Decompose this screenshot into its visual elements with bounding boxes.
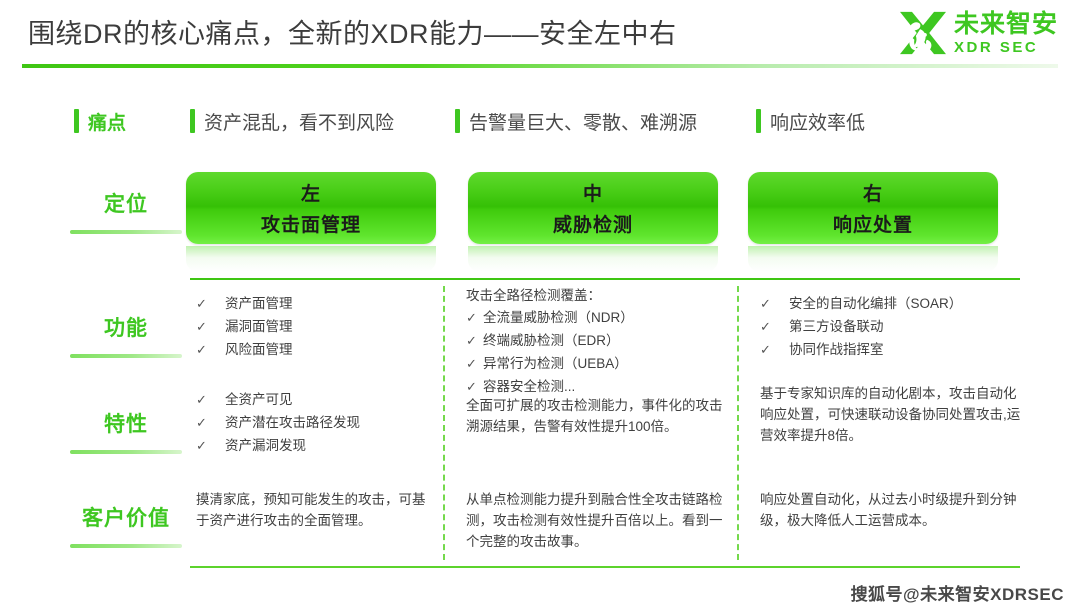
button-reflection-mid [468,246,718,272]
list-item-text: 安全的自动化编排（SOAR） [789,294,962,315]
button-reflection-left [186,246,436,272]
list-item-text: 资产面管理 [225,294,293,315]
list-item-text: 终端威胁检测（EDR） [483,331,620,352]
list-item-text: 全资产可见 [225,390,293,411]
check-icon: ✓ [466,354,477,374]
check-icon: ✓ [196,390,207,410]
cell-value-mid: 从单点检测能力提升到融合性全攻击链路检测，攻击检测有效性提升百倍以上。看到一个完… [466,490,728,553]
table-row: 功能 ✓资产面管理 ✓漏洞面管理 ✓风险面管理 攻击全路径检测覆盖： ✓全流量威… [0,286,1080,378]
pillar-button-left-title: 左 [301,179,321,206]
accent-bar-icon [74,109,79,133]
list-item: ✓资产面管理 [196,294,432,315]
table-top-divider [190,278,1020,280]
cell-paragraph: 响应处置自动化，从过去小时级提升到分钟级，极大降低人工运营成本。 [760,490,1028,532]
pillar-button-mid-subtitle: 威胁检测 [553,210,633,237]
cell-paragraph: 全面可扩展的攻击检测能力，事件化的攻击溯源结果，告警有效性提升100倍。 [466,396,728,438]
header-divider [22,64,1058,68]
list-item: ✓第三方设备联动 [760,317,1028,338]
list-item-text: 资产漏洞发现 [225,436,306,457]
list-item-text: 协同作战指挥室 [789,340,884,361]
painpoint-item-1: 资产混乱，看不到风险 [190,104,394,138]
checklist: ✓资产面管理 ✓漏洞面管理 ✓风险面管理 [196,294,432,361]
check-icon: ✓ [760,340,771,360]
painpoint-row: 痛点 资产混乱，看不到风险 告警量巨大、零散、难溯源 响应效率低 [0,104,1080,144]
pillar-button-right-subtitle: 响应处置 [833,210,913,237]
check-icon: ✓ [466,308,477,328]
button-reflection-right [748,246,998,272]
position-label: 定位 [70,188,182,218]
row-label-block-value: 客户价值 [70,502,182,548]
label-underline [70,450,182,454]
list-item: ✓全资产可见 [196,390,432,411]
cell-paragraph: 从单点检测能力提升到融合性全攻击链路检测，攻击检测有效性提升百倍以上。看到一个完… [466,490,728,553]
cell-feature-mid: 全面可扩展的攻击检测能力，事件化的攻击溯源结果，告警有效性提升100倍。 [466,396,728,438]
accent-bar-icon [756,109,761,133]
label-underline [70,354,182,358]
pillar-button-right-title: 右 [863,179,883,206]
cell-feature-right: 基于专家知识库的自动化剧本，攻击自动化响应处置，可快速联动设备协同处置攻击,运营… [760,384,1028,447]
brand-name-en: XDR SEC [954,40,1058,55]
cell-feature-left: ✓全资产可见 ✓资产潜在攻击路径发现 ✓资产漏洞发现 [196,390,432,459]
page-title: 围绕DR的核心痛点，全新的XDR能力——安全左中右 [28,12,677,51]
list-item-text: 全流量威胁检测（NDR） [483,308,634,329]
accent-bar-icon [190,109,195,133]
pillar-button-mid-title: 中 [583,179,603,206]
list-item: ✓协同作战指挥室 [760,340,1028,361]
painpoint-item-3-text: 响应效率低 [770,108,865,135]
row-label-feature: 特性 [70,408,182,438]
row-label-customer-value: 客户价值 [70,502,182,532]
brand-logo: 未来智安 XDR SEC [899,8,1058,58]
list-item: ✓风险面管理 [196,340,432,361]
row-label-block-function: 功能 [70,312,182,358]
list-item: ✓资产漏洞发现 [196,436,432,457]
list-item-text: 风险面管理 [225,340,293,361]
table-row: 客户价值 摸清家底，预知可能发生的攻击，可基于资产进行攻击的全面管理。 从单点检… [0,480,1080,566]
position-label-block: 定位 [70,188,182,234]
brand-name-cn: 未来智安 [954,12,1058,37]
checklist: ✓安全的自动化编排（SOAR） ✓第三方设备联动 ✓协同作战指挥室 [760,294,1028,361]
pillar-button-left-subtitle: 攻击面管理 [261,210,361,237]
table-bottom-divider [190,566,1020,568]
painpoint-item-1-text: 资产混乱，看不到风险 [204,108,394,135]
cell-heading: 攻击全路径检测覆盖： [466,286,728,307]
check-icon: ✓ [196,317,207,337]
table-row: 特性 ✓全资产可见 ✓资产潜在攻击路径发现 ✓资产漏洞发现 全面可扩展的攻击检测… [0,382,1080,474]
accent-bar-icon [455,109,460,133]
list-item-text: 异常行为检测（UEBA） [483,354,628,375]
painpoint-label-cell: 痛点 [74,104,126,138]
checklist: ✓全资产可见 ✓资产潜在攻击路径发现 ✓资产漏洞发现 [196,390,432,457]
cell-paragraph: 基于专家知识库的自动化剧本，攻击自动化响应处置，可快速联动设备协同处置攻击,运营… [760,384,1028,447]
pillar-button-right[interactable]: 右 响应处置 [748,172,998,244]
list-item-text: 漏洞面管理 [225,317,293,338]
list-item: ✓漏洞面管理 [196,317,432,338]
painpoint-item-3: 响应效率低 [756,104,865,138]
check-icon: ✓ [196,294,207,314]
list-item: ✓全流量威胁检测（NDR） [466,308,728,329]
watermark: 搜狐号@未来智安XDRSEC [851,580,1064,605]
painpoint-item-2-text: 告警量巨大、零散、难溯源 [469,108,697,135]
check-icon: ✓ [196,413,207,433]
list-item: ✓异常行为检测（UEBA） [466,354,728,375]
row-label-block-feature: 特性 [70,408,182,454]
check-icon: ✓ [196,436,207,456]
painpoint-item-2: 告警量巨大、零散、难溯源 [455,104,697,138]
page-header: 围绕DR的核心痛点，全新的XDR能力——安全左中右 未来智安 XDR SEC [0,0,1080,70]
list-item-text: 资产潜在攻击路径发现 [225,413,360,434]
check-icon: ✓ [760,317,771,337]
cell-function-left: ✓资产面管理 ✓漏洞面管理 ✓风险面管理 [196,294,432,363]
painpoint-label: 痛点 [88,108,126,135]
list-item: ✓安全的自动化编排（SOAR） [760,294,1028,315]
brand-text: 未来智安 XDR SEC [954,12,1058,55]
cell-function-right: ✓安全的自动化编排（SOAR） ✓第三方设备联动 ✓协同作战指挥室 [760,294,1028,363]
pillar-button-left[interactable]: 左 攻击面管理 [186,172,436,244]
check-icon: ✓ [760,294,771,314]
cell-value-left: 摸清家底，预知可能发生的攻击，可基于资产进行攻击的全面管理。 [196,490,432,532]
comparison-table: 功能 ✓资产面管理 ✓漏洞面管理 ✓风险面管理 攻击全路径检测覆盖： ✓全流量威… [0,278,1080,578]
list-item-text: 第三方设备联动 [789,317,884,338]
check-icon: ✓ [466,331,477,351]
row-label-function: 功能 [70,312,182,342]
label-underline [70,544,182,548]
brand-x-beast-icon [899,10,947,56]
list-item: ✓终端威胁检测（EDR） [466,331,728,352]
pillar-button-mid[interactable]: 中 威胁检测 [468,172,718,244]
check-icon: ✓ [196,340,207,360]
cell-paragraph: 摸清家底，预知可能发生的攻击，可基于资产进行攻击的全面管理。 [196,490,432,532]
cell-value-right: 响应处置自动化，从过去小时级提升到分钟级，极大降低人工运营成本。 [760,490,1028,532]
label-underline [70,230,182,234]
position-row: 定位 左 攻击面管理 中 威胁检测 右 响应处置 [0,166,1080,276]
list-item: ✓资产潜在攻击路径发现 [196,413,432,434]
